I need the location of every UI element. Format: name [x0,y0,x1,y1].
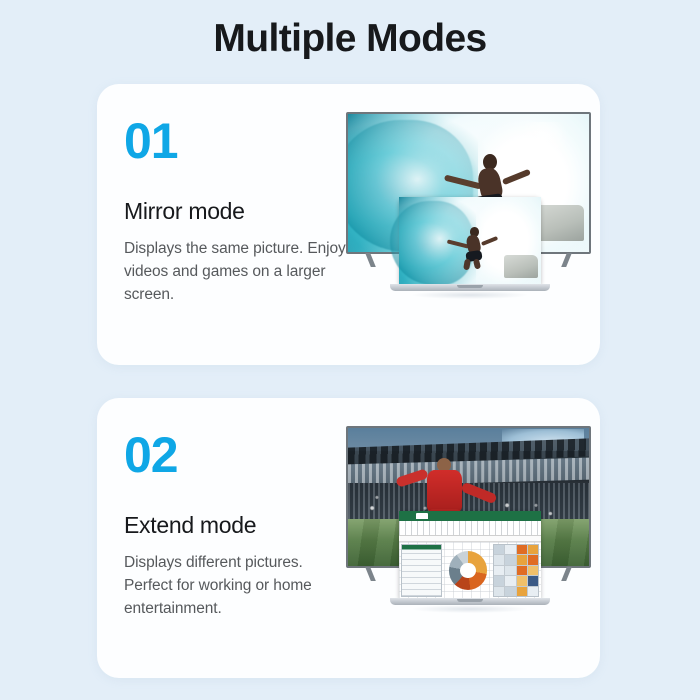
card-text-block: 02 Extend mode Displays different pictur… [124,430,354,621]
spreadsheet-tab [416,516,428,519]
card-heading: Extend mode [124,512,354,539]
spreadsheet-artwork [404,516,536,592]
surfer-right-leg [473,258,481,269]
footballer-shirt [427,470,462,512]
device-shadow [412,605,528,613]
surfer-figure [453,223,496,269]
tv-leg-right [561,567,572,581]
card-number: 02 [124,430,354,480]
laptop-device [399,197,541,295]
surfer-left-leg [463,259,471,271]
tv-leg-left [365,567,376,581]
device-shadow [412,291,528,299]
laptop-notch [457,599,483,602]
card-heading: Mirror mode [124,198,354,225]
laptop-notch [457,285,483,288]
tv-leg-left [365,253,376,267]
spreadsheet-ribbon [404,521,536,536]
laptop-screen [404,202,536,278]
mode-card-extend[interactable]: 02 Extend mode Displays different pictur… [97,398,600,678]
laptop-lid [399,197,541,285]
card-number: 01 [124,116,354,166]
laptop-lid [399,511,541,599]
laptop-device [399,511,541,609]
card-description: Displays different pictures. Perfect for… [124,552,354,621]
spreadsheet-donut-chart-area [444,544,491,592]
laptop-screen [404,516,536,592]
spreadsheet-heatmap-grid [493,544,536,592]
shore-rocks [504,255,536,278]
mirror-mode-illustration [346,102,591,350]
wave-surfer-artwork-mirrored [404,202,536,278]
tv-leg-right [561,253,572,267]
spreadsheet-data-table [404,544,442,592]
page-title: Multiple Modes [0,17,700,61]
card-text-block: 01 Mirror mode Displays the same picture… [124,116,354,307]
mode-card-mirror[interactable]: 01 Mirror mode Displays the same picture… [97,84,600,365]
donut-chart [449,551,487,589]
extend-mode-illustration [346,416,591,664]
card-description: Displays the same picture. Enjoy videos … [124,238,354,307]
spreadsheet-worksheet [404,542,536,592]
